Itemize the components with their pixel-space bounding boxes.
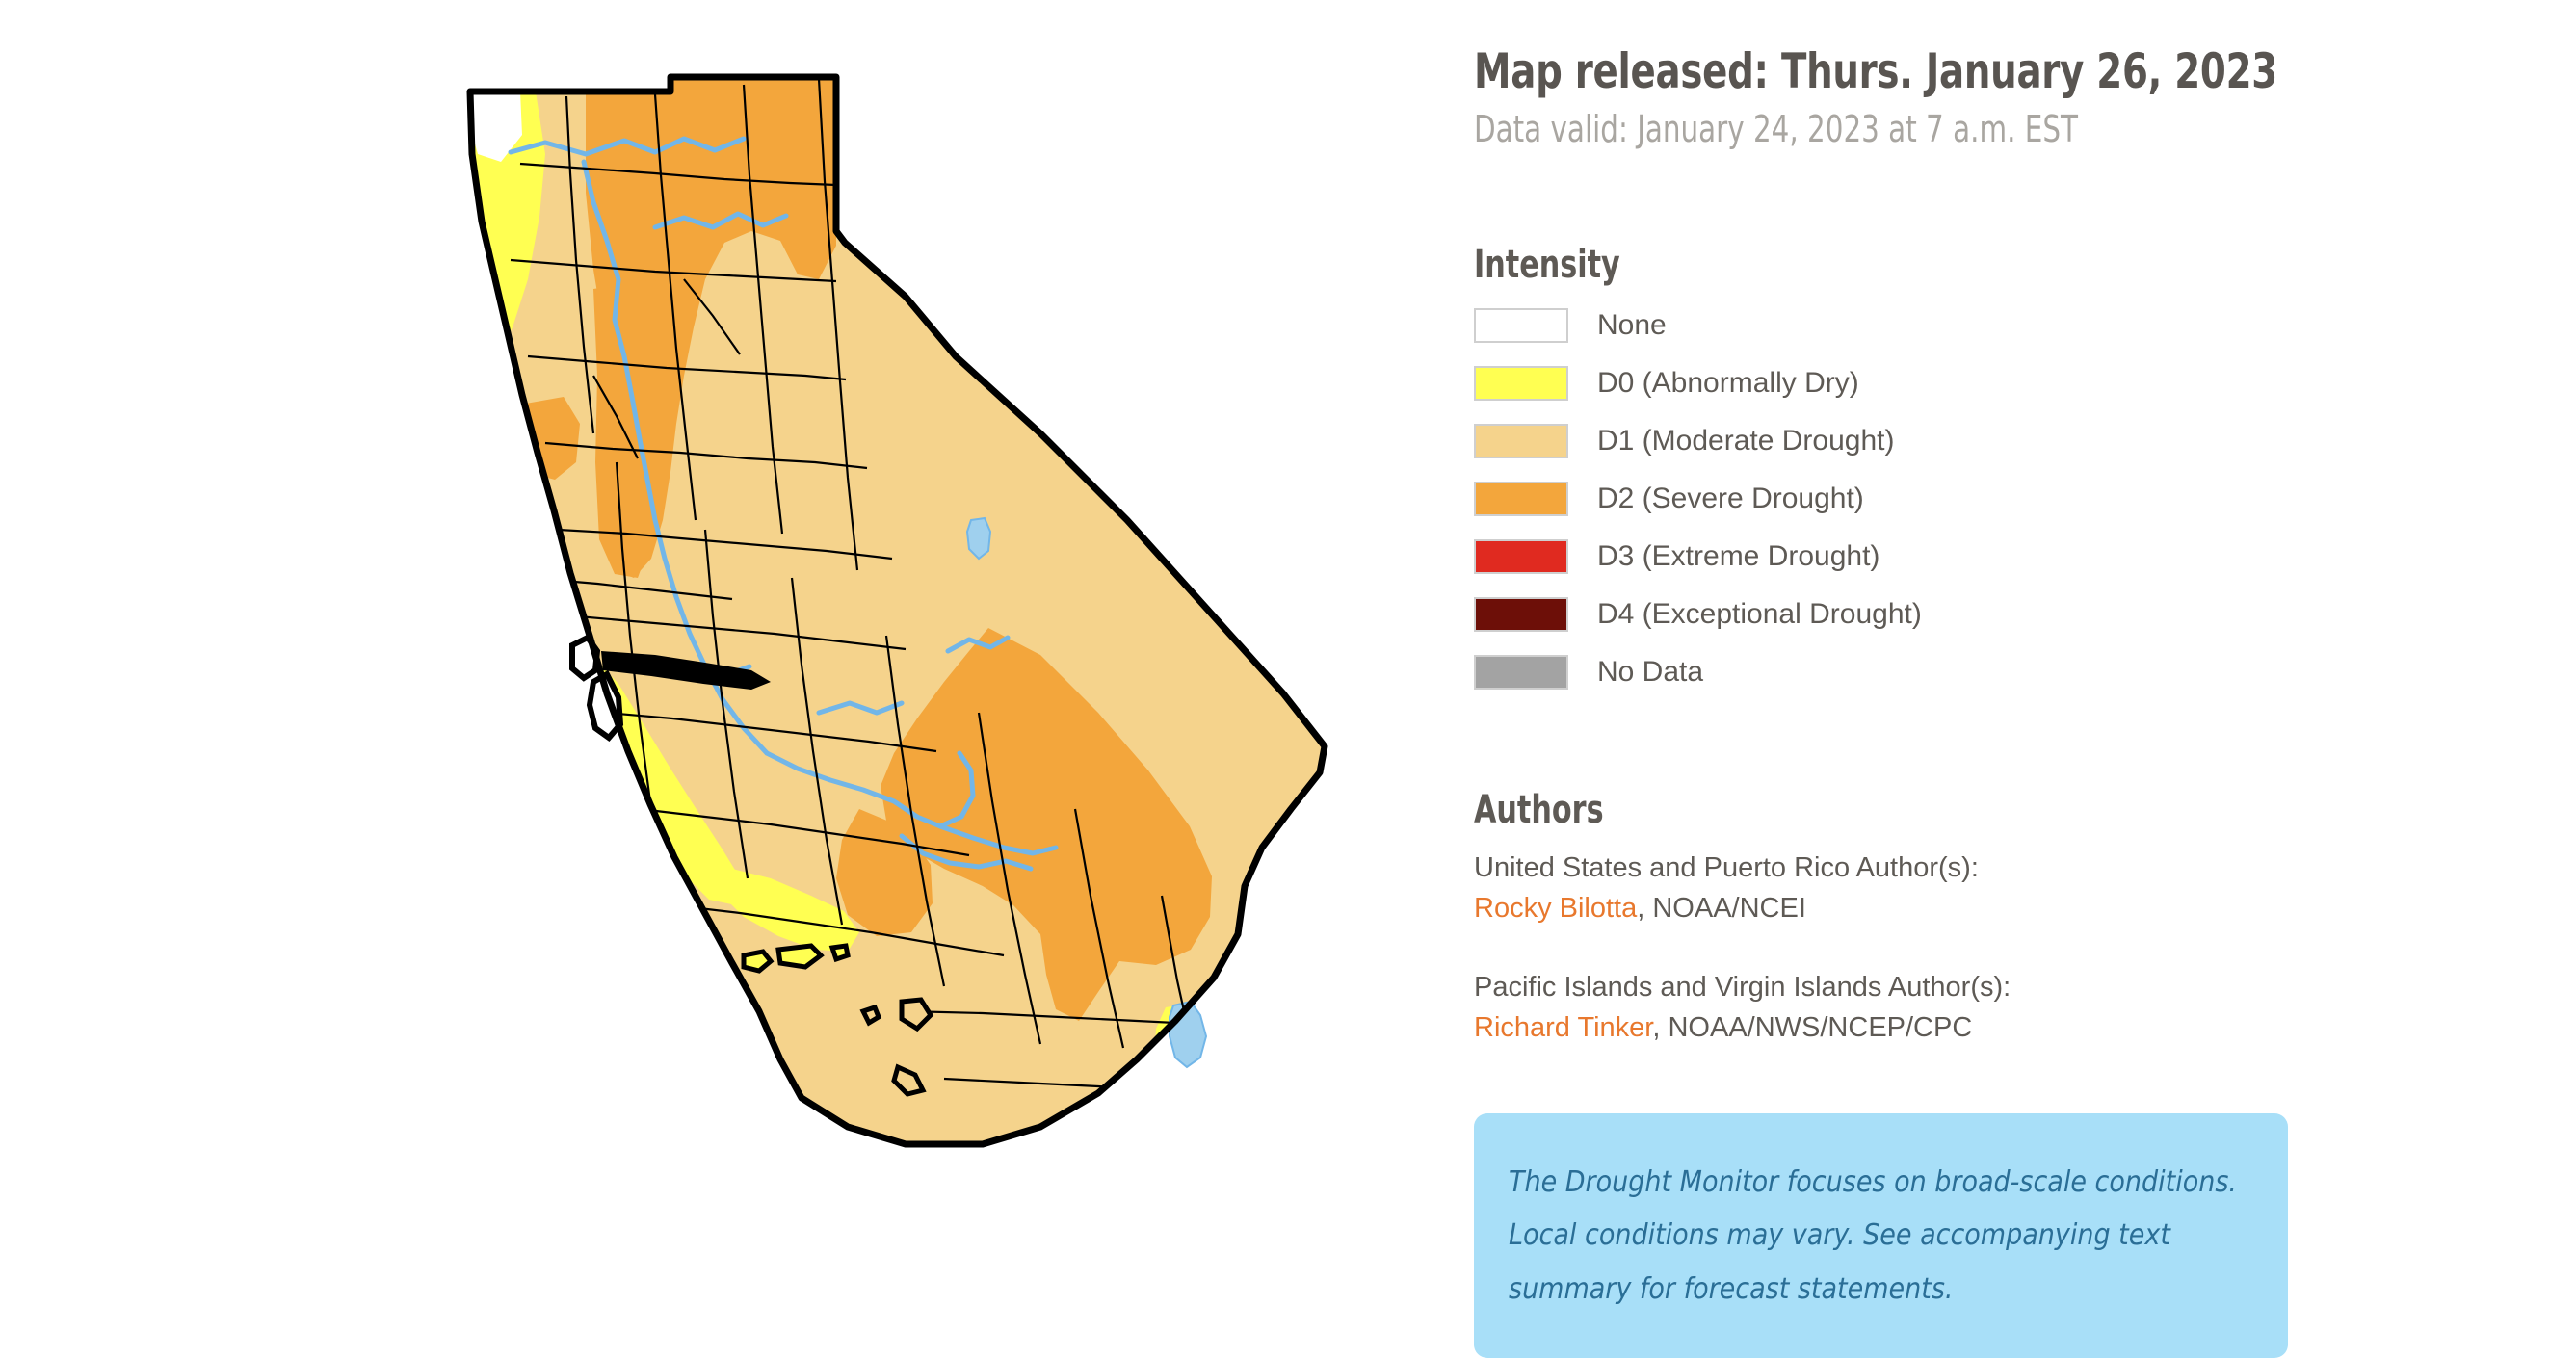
authors-heading: Authors [1474,788,2331,832]
legend-label-d1: D1 (Moderate Drought) [1597,425,1894,457]
swatch-no-data [1474,655,1568,690]
intensity-heading: Intensity [1474,243,2331,287]
legend-row-d0[interactable]: D0 (Abnormally Dry) [1474,354,2495,412]
map-released-title: Map released: Thurs. January 26, 2023 [1474,44,2353,98]
swatch-d1 [1474,424,1568,458]
authors-section: Authors United States and Puerto Rico Au… [1474,788,2495,1048]
island-santa-cruz [832,946,848,959]
author-role-pacific: Pacific Islands and Virgin Islands Autho… [1474,967,2495,1007]
california-drought-map[interactable] [366,39,1387,1194]
legend-label-d0: D0 (Abnormally Dry) [1597,367,1859,400]
swatch-d0 [1474,366,1568,401]
legend-list: None D0 (Abnormally Dry) D1 (Moderate Dr… [1474,297,2495,701]
legend-label-d3: D3 (Extreme Drought) [1597,540,1879,573]
swatch-none [1474,308,1568,343]
legend-label-none: None [1597,309,1667,342]
drought-area-d0-eastriverside [1243,965,1283,1015]
legend-label-d4: D4 (Exceptional Drought) [1597,598,1922,631]
legend-row-d1[interactable]: D1 (Moderate Drought) [1474,412,2495,470]
intensity-legend: Intensity None D0 (Abnormally Dry) D1 (M… [1474,243,2495,701]
island-santa-barbara [863,1007,879,1023]
swatch-d3 [1474,539,1568,574]
author-name-link-us[interactable]: Rocky Bilotta [1474,893,1637,924]
swatch-d2 [1474,482,1568,516]
disclaimer-note-box: The Drought Monitor focuses on broad-sca… [1474,1113,2288,1358]
legend-row-d3[interactable]: D3 (Extreme Drought) [1474,528,2495,586]
author-name-link-pacific[interactable]: Richard Tinker [1474,1012,1652,1043]
legend-row-no-data[interactable]: No Data [1474,643,2495,701]
author-line-us: Rocky Bilotta, NOAA/NCEI [1474,888,2495,928]
author-block-us: United States and Puerto Rico Author(s):… [1474,848,2495,928]
info-panel: Map released: Thurs. January 26, 2023 Da… [1474,44,2495,1358]
disclaimer-note-text: The Drought Monitor focuses on broad-sca… [1509,1156,2249,1317]
author-affiliation-us: , NOAA/NCEI [1637,893,1806,924]
legend-row-d4[interactable]: D4 (Exceptional Drought) [1474,586,2495,643]
author-line-pacific: Richard Tinker, NOAA/NWS/NCEP/CPC [1474,1007,2495,1048]
map-svg [366,39,1387,1194]
legend-row-none[interactable]: None [1474,297,2495,354]
author-affiliation-pacific: , NOAA/NWS/NCEP/CPC [1652,1012,1972,1043]
data-valid-subtitle: Data valid: January 24, 2023 at 7 a.m. E… [1474,108,2353,152]
author-role-us: United States and Puerto Rico Author(s): [1474,848,2495,888]
legend-label-d2: D2 (Severe Drought) [1597,483,1864,515]
legend-label-no-data: No Data [1597,656,1703,689]
legend-row-d2[interactable]: D2 (Severe Drought) [1474,470,2495,528]
swatch-d4 [1474,597,1568,632]
drought-monitor-page: Map released: Thurs. January 26, 2023 Da… [0,0,2576,1319]
author-block-pacific: Pacific Islands and Virgin Islands Autho… [1474,967,2495,1048]
